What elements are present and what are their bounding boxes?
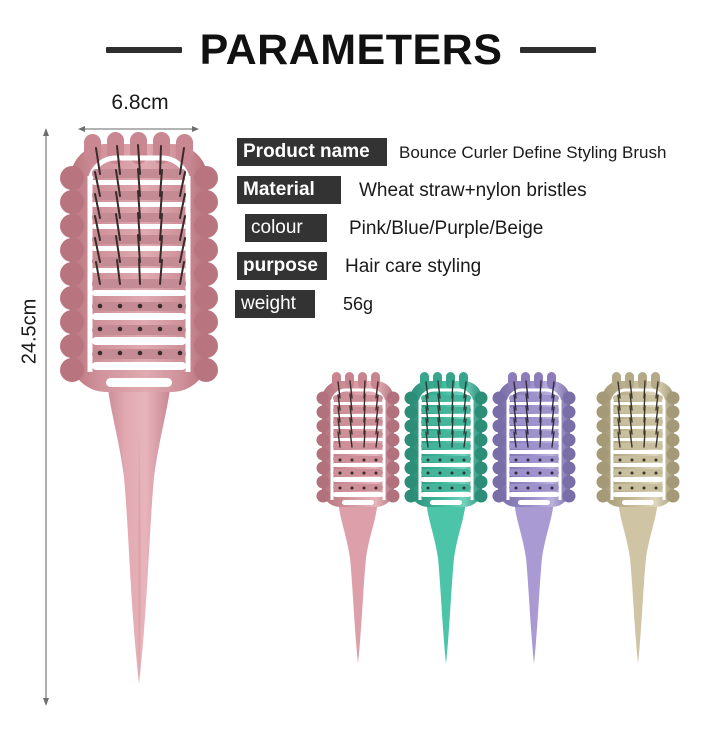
spec-key-product-name: Product name xyxy=(237,138,387,166)
product-variant-pink xyxy=(312,372,404,672)
spec-value-product-name: Bounce Curler Define Styling Brush xyxy=(399,144,666,161)
product-variant-purple xyxy=(488,372,580,672)
spec-value-colour: Pink/Blue/Purple/Beige xyxy=(349,219,543,238)
spec-key-weight: weight xyxy=(235,290,315,318)
spec-value-weight: 56g xyxy=(343,295,373,313)
specification-table: Product name Bounce Curler Define Stylin… xyxy=(237,133,702,323)
title-dash-left xyxy=(106,47,182,53)
width-dimension: 6.8cm xyxy=(60,92,220,114)
spec-row-colour: colour Pink/Blue/Purple/Beige xyxy=(237,209,702,247)
spec-value-material: Wheat straw+nylon bristles xyxy=(359,181,587,200)
spec-key-material: Material xyxy=(237,176,341,204)
spec-key-purpose: purpose xyxy=(237,252,327,280)
spec-value-purpose: Hair care styling xyxy=(345,257,481,276)
width-dimension-label: 6.8cm xyxy=(111,91,168,114)
page-title: PARAMETERS xyxy=(200,29,503,72)
spec-row-material: Material Wheat straw+nylon bristles xyxy=(237,171,702,209)
title-dash-right xyxy=(520,47,596,53)
spec-row-weight: weight 56g xyxy=(237,285,702,323)
product-image-main-brush xyxy=(44,132,234,702)
spec-row-purpose: purpose Hair care styling xyxy=(237,247,702,285)
product-variant-teal xyxy=(400,372,492,672)
spec-row-product-name: Product name Bounce Curler Define Stylin… xyxy=(237,133,702,171)
height-dimension-label: 24.5cm xyxy=(19,284,42,380)
page-title-block: PARAMETERS xyxy=(0,22,702,78)
brush-head xyxy=(60,132,218,392)
spec-key-colour: colour xyxy=(245,214,327,242)
product-variant-beige xyxy=(592,372,684,672)
